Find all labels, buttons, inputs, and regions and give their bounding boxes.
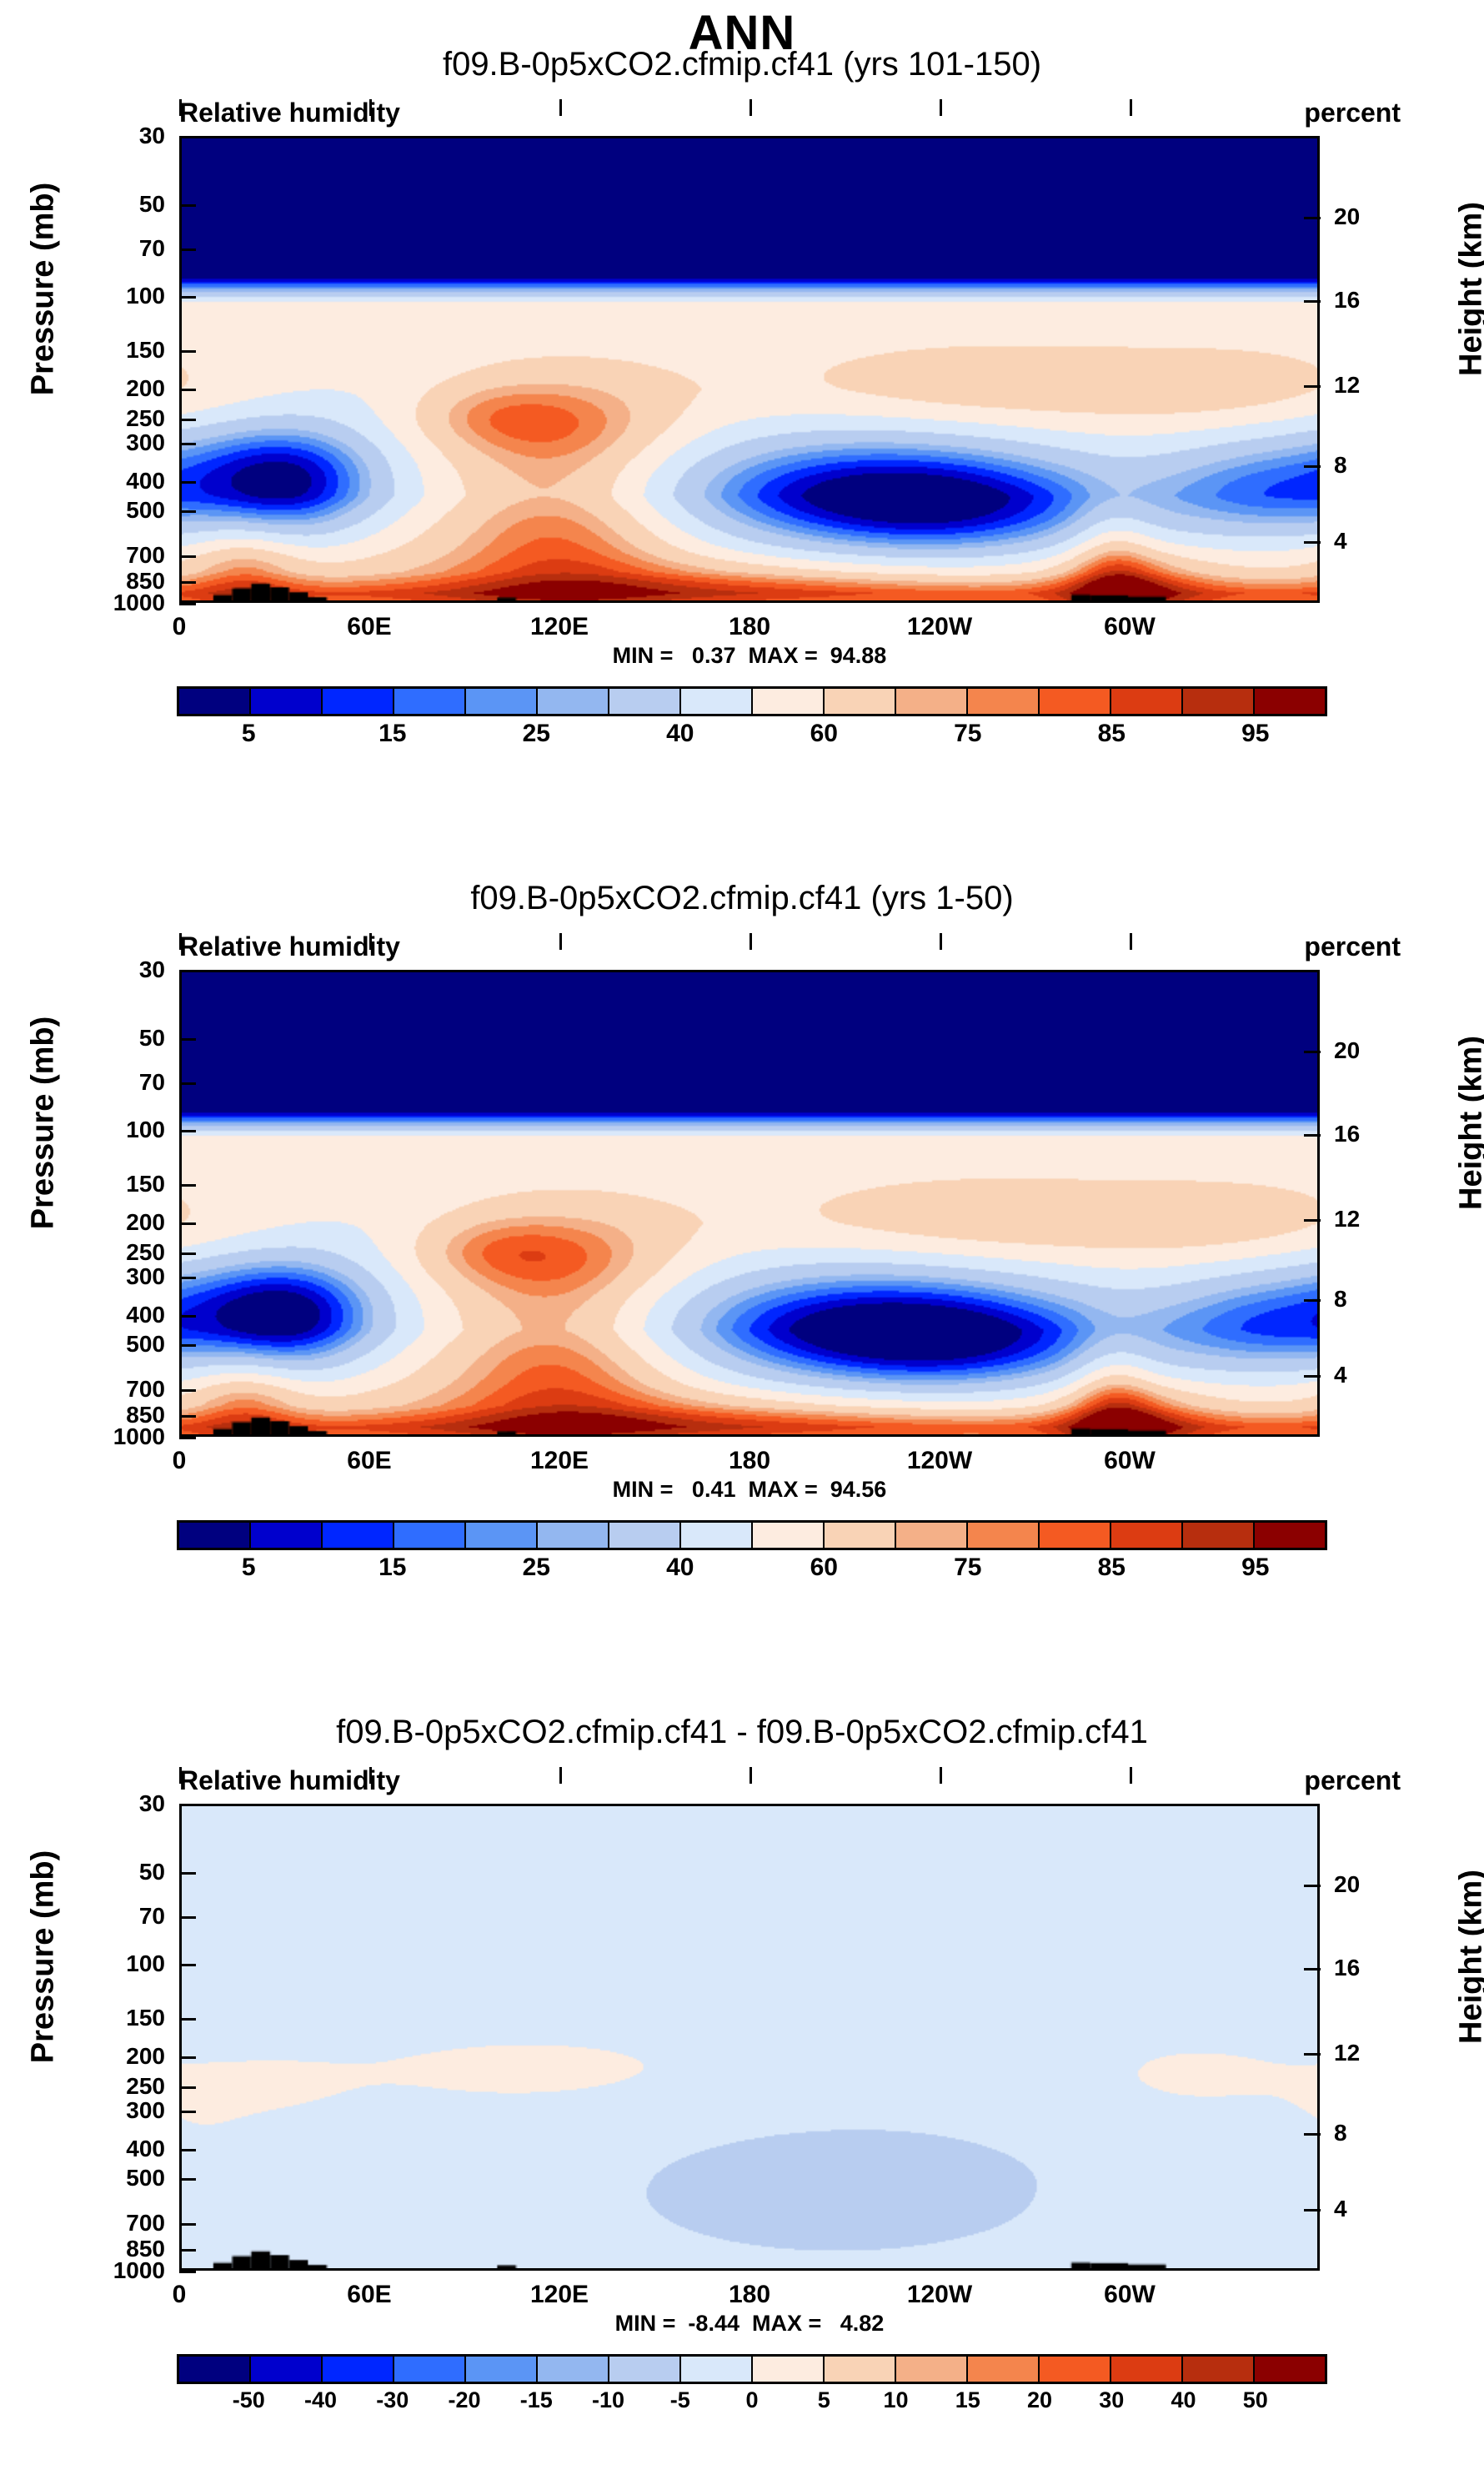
height-tick-label: 20 (1334, 1039, 1360, 1062)
y-axis-title-right: Height (km) (1454, 148, 1484, 431)
pressure-tick-label: 100 (126, 1118, 165, 1142)
y-axis-title-left: Pressure (mb) (26, 1815, 62, 2099)
colorbar-tick-label: -20 (448, 2387, 480, 2413)
tick-mark (1304, 1299, 1321, 1302)
colorbar-swatch (1040, 1523, 1111, 1548)
tick-mark (179, 1277, 196, 1279)
pressure-tick-label: 70 (139, 1071, 165, 1094)
height-tick-label: 8 (1334, 454, 1347, 477)
longitude-axis-ticks: 060E120E180120W60W (179, 610, 1320, 646)
colorbar-swatch (394, 2357, 466, 2382)
pressure-tick-label: 200 (126, 1211, 165, 1234)
pressure-tick-label: 150 (126, 1172, 165, 1196)
height-tick-label: 16 (1334, 1122, 1360, 1146)
colorbar-swatch (1255, 1523, 1325, 1548)
tick-mark (179, 1415, 196, 1418)
tick-mark (1304, 2053, 1321, 2056)
tick-mark (940, 1767, 942, 1784)
colorbar-swatch (1111, 2357, 1183, 2382)
colorbar-swatch (609, 2357, 681, 2382)
panel-title: f09.B-0p5xCO2.cfmip.cf41 (yrs 101-150) (0, 46, 1484, 83)
pressure-tick-label: 250 (126, 1241, 165, 1264)
colorbar-tick-label: -5 (670, 2387, 690, 2413)
pressure-axis-ticks: 3050701001502002503004005007008501000 (50, 970, 165, 1437)
colorbar-swatches (177, 1520, 1327, 1550)
longitude-tick-label: 120E (530, 1447, 589, 1475)
colorbar-swatch (753, 2357, 825, 2382)
pressure-axis-ticks: 3050701001502002503004005007008501000 (50, 1804, 165, 2271)
longitude-tick-label: 120W (907, 2281, 972, 2309)
colorbar-swatch (466, 1523, 538, 1548)
pressure-tick-label: 1000 (113, 2259, 165, 2282)
tick-mark (179, 603, 196, 605)
tick-mark (369, 1767, 372, 1784)
tick-mark (179, 2271, 196, 2273)
longitude-tick-label: 180 (729, 613, 770, 641)
tick-mark (1304, 465, 1321, 468)
height-tick-label: 20 (1334, 1873, 1360, 1896)
contour-canvas (182, 1806, 1317, 2268)
longitude-tick-label: 0 (173, 2281, 187, 2309)
colorbar-tick-label: -40 (304, 2387, 337, 2413)
contour-plot-area (179, 970, 1320, 1437)
pressure-tick-label: 30 (139, 958, 165, 981)
tick-mark (179, 1038, 196, 1041)
pressure-tick-label: 300 (126, 1265, 165, 1288)
longitude-tick-label: 60W (1104, 2281, 1156, 2309)
colorbar-tick-label: 20 (1027, 2387, 1052, 2413)
colorbar-swatches (177, 686, 1327, 716)
height-tick-label: 4 (1334, 530, 1347, 553)
contour-canvas (182, 972, 1317, 1434)
colorbar-swatch (968, 689, 1040, 714)
colorbar-tick-label: 5 (242, 720, 256, 748)
tick-mark (179, 389, 196, 391)
colorbar-swatch (251, 1523, 323, 1548)
pressure-tick-label: 400 (126, 1303, 165, 1327)
colorbar: 515254060758595 (177, 1520, 1327, 1587)
colorbar-tick-label: 30 (1099, 2387, 1124, 2413)
pressure-tick-label: 300 (126, 2099, 165, 2122)
colorbar-tick-label: 5 (242, 1554, 256, 1582)
tick-mark (940, 99, 942, 116)
colorbar-swatch (394, 689, 466, 714)
colorbar-swatch (538, 1523, 609, 1548)
height-tick-marks (1299, 970, 1321, 1437)
longitude-tick-label: 60W (1104, 1447, 1156, 1475)
colorbar-tick-label: 60 (810, 1554, 838, 1582)
colorbar-tick-label: -10 (592, 2387, 624, 2413)
pressure-tick-label: 200 (126, 2045, 165, 2068)
tick-mark (179, 350, 196, 353)
colorbar-tick-label: 40 (666, 720, 694, 748)
top-axis-tick-marks (179, 118, 1320, 136)
colorbar-tick-label: 15 (379, 720, 406, 748)
colorbar-tick-label: 15 (955, 2387, 980, 2413)
tick-mark (750, 1767, 752, 1784)
tick-mark (750, 99, 752, 116)
colorbar-labels: 515254060758595 (177, 718, 1327, 751)
tick-mark (179, 510, 196, 513)
pressure-tick-label: 100 (126, 1952, 165, 1975)
tick-mark (1304, 1885, 1321, 1887)
tick-mark (369, 933, 372, 950)
colorbar-swatch (1111, 689, 1183, 714)
tick-mark (179, 1184, 196, 1187)
pressure-tick-label: 400 (126, 2137, 165, 2161)
tick-mark (750, 933, 752, 950)
colorbar-swatch (825, 2357, 896, 2382)
min-max-readout: MIN = 0.41 MAX = 94.56 (179, 1477, 1320, 1503)
pressure-tick-label: 100 (126, 284, 165, 308)
pressure-tick-label: 30 (139, 124, 165, 148)
colorbar-swatch (323, 2357, 394, 2382)
pressure-tick-label: 700 (126, 544, 165, 567)
colorbar-tick-label: 50 (1243, 2387, 1268, 2413)
height-axis-ticks: 20161284 (1334, 1804, 1426, 2271)
height-tick-label: 20 (1334, 205, 1360, 228)
pressure-tick-marks (179, 970, 201, 1437)
longitude-tick-label: 180 (729, 2281, 770, 2309)
tick-mark (559, 933, 562, 950)
tick-mark (179, 2111, 196, 2113)
tick-mark (1304, 1219, 1321, 1222)
height-axis-ticks: 20161284 (1334, 136, 1426, 603)
tick-mark (559, 99, 562, 116)
top-axis-tick-marks (179, 951, 1320, 970)
tick-mark (179, 419, 196, 421)
pressure-tick-label: 70 (139, 1905, 165, 1928)
longitude-tick-label: 120W (907, 613, 972, 641)
longitude-tick-label: 120E (530, 2281, 589, 2309)
colorbar-swatch (1183, 2357, 1255, 2382)
height-tick-marks (1299, 136, 1321, 603)
colorbar-tick-label: 15 (379, 1554, 406, 1582)
longitude-tick-label: 60E (347, 1447, 391, 1475)
tick-mark (1304, 2209, 1321, 2211)
colorbar-tick-label: 85 (1098, 720, 1126, 748)
tick-mark (179, 1389, 196, 1392)
pressure-tick-label: 700 (126, 2211, 165, 2235)
height-tick-label: 12 (1334, 2041, 1360, 2065)
colorbar-swatch (323, 689, 394, 714)
tick-mark (1304, 300, 1321, 303)
tick-mark (1130, 933, 1132, 950)
tick-mark (179, 1253, 196, 1255)
tick-mark (179, 1315, 196, 1318)
height-tick-label: 8 (1334, 1288, 1347, 1311)
pressure-tick-label: 700 (126, 1378, 165, 1401)
colorbar-swatch (251, 2357, 323, 2382)
tick-mark (179, 204, 196, 207)
longitude-tick-label: 60E (347, 613, 391, 641)
height-tick-label: 12 (1334, 374, 1360, 397)
pressure-tick-marks (179, 136, 201, 603)
tick-mark (179, 1964, 196, 1966)
pressure-tick-label: 500 (126, 499, 165, 522)
y-axis-title-right: Height (km) (1454, 1815, 1484, 2099)
tick-mark (179, 555, 196, 558)
tick-mark (179, 443, 196, 445)
colorbar-tick-label: 10 (883, 2387, 908, 2413)
colorbar: 515254060758595 (177, 686, 1327, 753)
colorbar-tick-label: 5 (818, 2387, 830, 2413)
pressure-tick-label: 70 (139, 237, 165, 260)
pressure-tick-label: 300 (126, 431, 165, 454)
tick-mark (1304, 1134, 1321, 1137)
colorbar-swatch (609, 689, 681, 714)
longitude-axis-ticks: 060E120E180120W60W (179, 2277, 1320, 2314)
colorbar-tick-label: 75 (954, 1554, 981, 1582)
y-axis-title-left: Pressure (mb) (26, 148, 62, 431)
longitude-tick-label: 120E (530, 613, 589, 641)
tick-mark (179, 970, 196, 972)
tick-mark (179, 99, 182, 116)
colorbar-swatch (394, 1523, 466, 1548)
longitude-tick-label: 0 (173, 613, 187, 641)
tick-mark (179, 2249, 196, 2252)
colorbar-swatch (179, 689, 251, 714)
colorbar-tick-label: -50 (233, 2387, 265, 2413)
height-tick-marks (1299, 1804, 1321, 2271)
colorbar-swatch (179, 2357, 251, 2382)
longitude-tick-label: 180 (729, 1447, 770, 1475)
tick-mark (179, 933, 182, 950)
colorbar-tick-label: 75 (954, 720, 981, 748)
colorbar-swatch (681, 2357, 753, 2382)
longitude-tick-label: 120W (907, 1447, 972, 1475)
colorbar-labels: -50-40-30-20-15-10-505101520304050 (177, 2386, 1327, 2419)
tick-mark (1304, 1968, 1321, 1970)
tick-mark (179, 2149, 196, 2151)
panel-title: f09.B-0p5xCO2.cfmip.cf41 - f09.B-0p5xCO2… (0, 1714, 1484, 1751)
height-tick-label: 4 (1334, 2197, 1347, 2221)
colorbar-swatch (466, 2357, 538, 2382)
panel-title: f09.B-0p5xCO2.cfmip.cf41 (yrs 1-50) (0, 880, 1484, 917)
min-max-readout: MIN = 0.37 MAX = 94.88 (179, 643, 1320, 669)
colorbar-swatch (896, 689, 968, 714)
colorbar-swatch (1040, 689, 1111, 714)
min-max-readout: MIN = -8.44 MAX = 4.82 (179, 2311, 1320, 2337)
colorbar-tick-label: -15 (520, 2387, 553, 2413)
tick-mark (1304, 541, 1321, 544)
colorbar-swatch (466, 689, 538, 714)
tick-mark (179, 296, 196, 299)
tick-mark (179, 581, 196, 584)
colorbar-swatch (681, 1523, 753, 1548)
tick-mark (179, 1130, 196, 1132)
tick-mark (1304, 385, 1321, 388)
height-tick-label: 12 (1334, 1207, 1360, 1231)
colorbar-swatch (1040, 2357, 1111, 2382)
colorbar-swatch (825, 689, 896, 714)
tick-mark (179, 1767, 182, 1784)
tick-mark (179, 1804, 196, 1806)
colorbar-swatch (825, 1523, 896, 1548)
colorbar-tick-label: 60 (810, 720, 838, 748)
colorbar-swatch (179, 1523, 251, 1548)
pressure-tick-label: 30 (139, 1792, 165, 1815)
colorbar-swatch (753, 689, 825, 714)
colorbar-swatches (177, 2354, 1327, 2384)
tick-mark (179, 2223, 196, 2226)
tick-mark (1304, 1375, 1321, 1378)
contour-canvas (182, 138, 1317, 600)
tick-mark (179, 2018, 196, 2021)
tick-mark (179, 2056, 196, 2059)
pressure-tick-label: 50 (139, 1860, 165, 1884)
colorbar-tick-label: 25 (523, 1554, 550, 1582)
colorbar-tick-label: 40 (1171, 2387, 1196, 2413)
pressure-tick-label: 150 (126, 339, 165, 362)
pressure-axis-ticks: 3050701001502002503004005007008501000 (50, 136, 165, 603)
pressure-tick-label: 50 (139, 193, 165, 216)
tick-mark (179, 2086, 196, 2089)
colorbar-swatch (896, 1523, 968, 1548)
tick-mark (1304, 217, 1321, 219)
colorbar-swatch (681, 689, 753, 714)
colorbar-swatch (538, 2357, 609, 2382)
colorbar-swatch (323, 1523, 394, 1548)
tick-mark (179, 1082, 196, 1085)
tick-mark (1304, 1051, 1321, 1053)
pressure-tick-label: 400 (126, 469, 165, 493)
colorbar-swatch (968, 2357, 1040, 2382)
y-axis-title-right: Height (km) (1454, 981, 1484, 1265)
colorbar-swatch (896, 2357, 968, 2382)
longitude-axis-ticks: 060E120E180120W60W (179, 1443, 1320, 1480)
colorbar-tick-label: 95 (1241, 1554, 1269, 1582)
tick-mark (179, 1222, 196, 1225)
tick-mark (559, 1767, 562, 1784)
pressure-tick-marks (179, 1804, 201, 2271)
height-tick-label: 4 (1334, 1363, 1347, 1387)
pressure-tick-label: 1000 (113, 591, 165, 615)
tick-mark (179, 1344, 196, 1347)
colorbar-tick-label: 25 (523, 720, 550, 748)
colorbar-swatch (968, 1523, 1040, 1548)
pressure-tick-label: 50 (139, 1027, 165, 1050)
tick-mark (179, 1872, 196, 1875)
height-axis-ticks: 20161284 (1334, 970, 1426, 1437)
pressure-tick-label: 1000 (113, 1425, 165, 1448)
pressure-tick-label: 500 (126, 1333, 165, 1356)
tick-mark (179, 136, 196, 138)
colorbar: -50-40-30-20-15-10-505101520304050 (177, 2354, 1327, 2421)
height-tick-label: 16 (1334, 289, 1360, 312)
colorbar-tick-label: 85 (1098, 1554, 1126, 1582)
colorbar-swatch (1111, 1523, 1183, 1548)
contour-plot-area (179, 1804, 1320, 2271)
height-tick-label: 8 (1334, 2121, 1347, 2145)
colorbar-swatch (609, 1523, 681, 1548)
colorbar-swatch (1255, 2357, 1325, 2382)
pressure-tick-label: 250 (126, 407, 165, 430)
y-axis-title-left: Pressure (mb) (26, 981, 62, 1265)
colorbar-tick-label: 0 (745, 2387, 758, 2413)
height-tick-label: 16 (1334, 1956, 1360, 1980)
pressure-tick-label: 250 (126, 2075, 165, 2098)
colorbar-swatch (251, 689, 323, 714)
colorbar-tick-label: -30 (376, 2387, 409, 2413)
tick-mark (940, 933, 942, 950)
colorbar-swatch (1183, 689, 1255, 714)
top-axis-tick-marks (179, 1785, 1320, 1804)
tick-mark (1304, 2133, 1321, 2136)
tick-mark (179, 1916, 196, 1919)
tick-mark (1130, 1767, 1132, 1784)
colorbar-tick-label: 95 (1241, 720, 1269, 748)
colorbar-swatch (1183, 1523, 1255, 1548)
colorbar-swatch (1255, 689, 1325, 714)
tick-mark (179, 481, 196, 484)
pressure-tick-label: 500 (126, 2166, 165, 2190)
longitude-tick-label: 60W (1104, 613, 1156, 641)
colorbar-swatch (753, 1523, 825, 1548)
tick-mark (179, 1437, 196, 1439)
pressure-tick-label: 150 (126, 2006, 165, 2030)
tick-mark (179, 2178, 196, 2181)
tick-mark (1130, 99, 1132, 116)
pressure-tick-label: 200 (126, 377, 165, 400)
tick-mark (369, 99, 372, 116)
tick-mark (179, 249, 196, 251)
colorbar-tick-label: 40 (666, 1554, 694, 1582)
colorbar-labels: 515254060758595 (177, 1552, 1327, 1585)
longitude-tick-label: 0 (173, 1447, 187, 1475)
colorbar-swatch (538, 689, 609, 714)
contour-plot-area (179, 136, 1320, 603)
longitude-tick-label: 60E (347, 2281, 391, 2309)
